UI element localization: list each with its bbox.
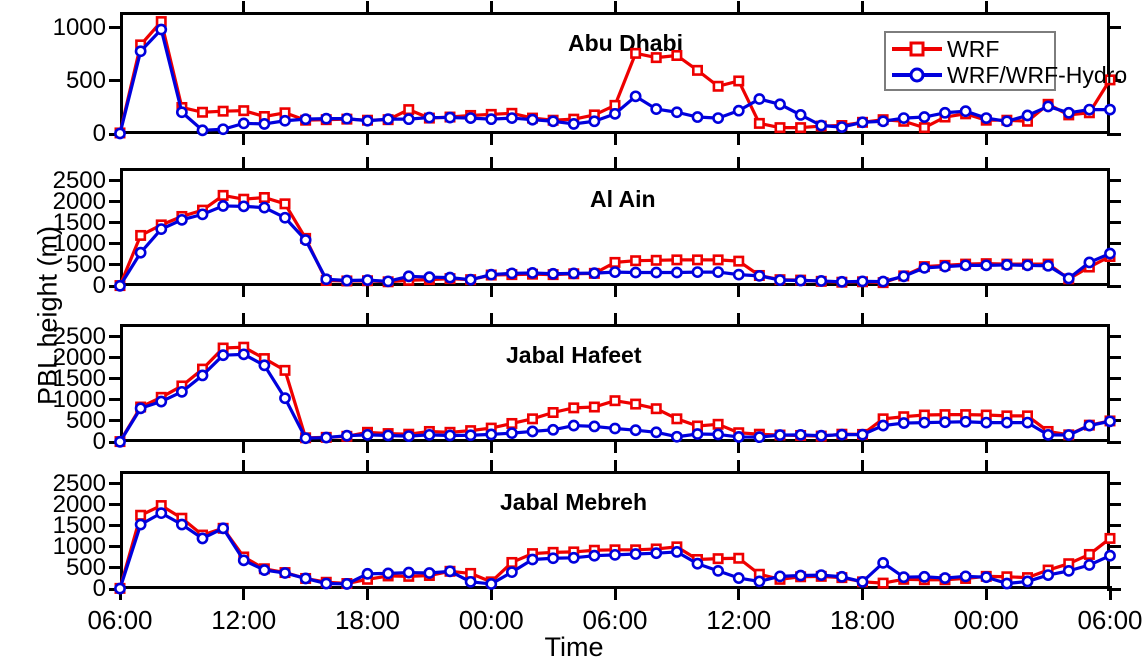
x-tick-mark (614, 313, 617, 327)
y-tick-mark (109, 356, 123, 359)
x-tick-label: 18:00 (803, 605, 923, 636)
y-tick-mark-right (1107, 221, 1121, 224)
x-tick-mark (366, 460, 369, 474)
y-tick-mark (109, 26, 123, 29)
x-tick-mark (490, 586, 493, 600)
y-tick-mark (109, 285, 123, 288)
x-tick-mark (614, 1, 617, 15)
x-tick-mark (242, 1, 245, 15)
x-tick-mark (737, 586, 740, 600)
y-tick-mark-right (1107, 179, 1121, 182)
panel-title-4: Jabal Mebreh (500, 489, 647, 516)
figure-root: PBL height (m) Time 05001000Abu Dhabi050… (0, 0, 1148, 669)
y-tick-mark (109, 441, 123, 444)
x-tick-mark (490, 131, 493, 145)
legend-marker-square-icon (890, 38, 944, 60)
legend-label-wrf-hydro: WRF/WRF-Hydro (947, 62, 1127, 89)
x-tick-mark (985, 157, 988, 171)
x-tick-mark (985, 1, 988, 15)
panel-title-1: Abu Dhabi (568, 30, 683, 57)
y-tick-mark (109, 200, 123, 203)
y-tick-mark-right (1107, 398, 1121, 401)
x-tick-mark (366, 131, 369, 145)
x-tick-mark (366, 1, 369, 15)
x-axis-title: Time (0, 632, 1148, 663)
x-tick-label: 18:00 (308, 605, 428, 636)
x-tick-mark (737, 283, 740, 297)
x-tick-mark (242, 131, 245, 145)
x-tick-mark (490, 157, 493, 171)
x-tick-mark (861, 460, 864, 474)
x-tick-mark (737, 157, 740, 171)
x-tick-mark (614, 460, 617, 474)
x-tick-mark (242, 157, 245, 171)
legend-entry-wrf-hydro: WRF/WRF-Hydro (890, 62, 1050, 88)
y-tick-mark (109, 566, 123, 569)
y-tick-mark-right (1107, 524, 1121, 527)
x-tick-mark (861, 1, 864, 15)
x-tick-mark (985, 131, 988, 145)
x-tick-mark (985, 439, 988, 453)
y-tick-label: 2500 (0, 323, 106, 351)
x-tick-mark (614, 439, 617, 453)
y-tick-mark-right (1107, 356, 1121, 359)
y-tick-mark-right (1107, 285, 1121, 288)
x-tick-mark (490, 460, 493, 474)
y-tick-mark-right (1107, 566, 1121, 569)
y-tick-mark-right (1107, 133, 1121, 136)
y-tick-mark (109, 419, 123, 422)
y-tick-mark (109, 545, 123, 548)
y-tick-mark-right (1107, 242, 1121, 245)
x-tick-mark (861, 439, 864, 453)
y-tick-mark-right (1107, 377, 1121, 380)
x-tick-mark (242, 313, 245, 327)
x-tick-label: 12:00 (679, 605, 799, 636)
y-tick-mark (109, 133, 123, 136)
y-tick-label: 0 (0, 120, 106, 148)
x-tick-mark (861, 157, 864, 171)
y-tick-mark (109, 377, 123, 380)
x-tick-mark (737, 131, 740, 145)
x-tick-label: 12:00 (184, 605, 304, 636)
y-tick-label: 2500 (0, 167, 106, 195)
y-tick-mark-right (1107, 503, 1121, 506)
y-tick-mark (109, 79, 123, 82)
legend-label-wrf: WRF (947, 36, 999, 63)
legend: WRF WRF/WRF-Hydro (884, 31, 1056, 91)
y-tick-mark (109, 398, 123, 401)
x-tick-mark (490, 1, 493, 15)
x-tick-label: 06:00 (555, 605, 675, 636)
y-tick-mark-right (1107, 482, 1121, 485)
x-tick-label: 00:00 (431, 605, 551, 636)
x-tick-mark (1109, 586, 1112, 600)
x-tick-mark (985, 586, 988, 600)
y-tick-mark-right (1107, 200, 1121, 203)
x-tick-mark (366, 283, 369, 297)
x-tick-label: 06:00 (1050, 605, 1148, 636)
y-tick-mark (109, 335, 123, 338)
y-tick-mark-right (1107, 441, 1121, 444)
y-tick-mark (109, 179, 123, 182)
x-tick-mark (861, 586, 864, 600)
y-tick-mark (109, 524, 123, 527)
x-tick-mark (737, 460, 740, 474)
y-tick-label: 2500 (0, 470, 106, 498)
y-tick-mark-right (1107, 335, 1121, 338)
y-tick-mark (109, 503, 123, 506)
x-tick-mark (614, 131, 617, 145)
x-tick-mark (366, 586, 369, 600)
x-tick-mark (614, 157, 617, 171)
x-tick-mark (366, 439, 369, 453)
panel-title-2: Al Ain (590, 186, 656, 213)
x-tick-mark (861, 313, 864, 327)
x-tick-mark (366, 157, 369, 171)
x-tick-mark (861, 131, 864, 145)
x-tick-mark (985, 460, 988, 474)
legend-entry-wrf: WRF (890, 36, 1050, 62)
x-tick-mark (985, 283, 988, 297)
y-tick-label: 1000 (0, 14, 106, 42)
x-tick-mark (490, 283, 493, 297)
x-tick-mark (490, 313, 493, 327)
y-tick-mark-right (1107, 545, 1121, 548)
x-tick-label: 06:00 (60, 605, 180, 636)
x-tick-mark (614, 586, 617, 600)
x-tick-mark (614, 283, 617, 297)
y-tick-mark-right (1107, 26, 1121, 29)
panel-title-3: Jabal Hafeet (506, 342, 642, 369)
y-tick-mark (109, 221, 123, 224)
x-tick-mark (985, 313, 988, 327)
x-tick-mark (242, 283, 245, 297)
x-tick-mark (366, 313, 369, 327)
y-tick-mark (109, 263, 123, 266)
y-tick-mark-right (1107, 419, 1121, 422)
x-tick-mark (737, 313, 740, 327)
x-tick-mark (119, 586, 122, 600)
x-tick-mark (242, 460, 245, 474)
x-tick-mark (242, 439, 245, 453)
legend-marker-circle-icon (890, 64, 944, 86)
y-tick-mark (109, 482, 123, 485)
y-tick-mark-right (1107, 263, 1121, 266)
x-tick-mark (737, 439, 740, 453)
y-tick-label: 500 (0, 67, 106, 95)
x-tick-mark (737, 1, 740, 15)
x-tick-mark (490, 439, 493, 453)
x-tick-mark (242, 586, 245, 600)
x-tick-mark (861, 283, 864, 297)
x-tick-label: 00:00 (926, 605, 1046, 636)
y-tick-mark (109, 242, 123, 245)
